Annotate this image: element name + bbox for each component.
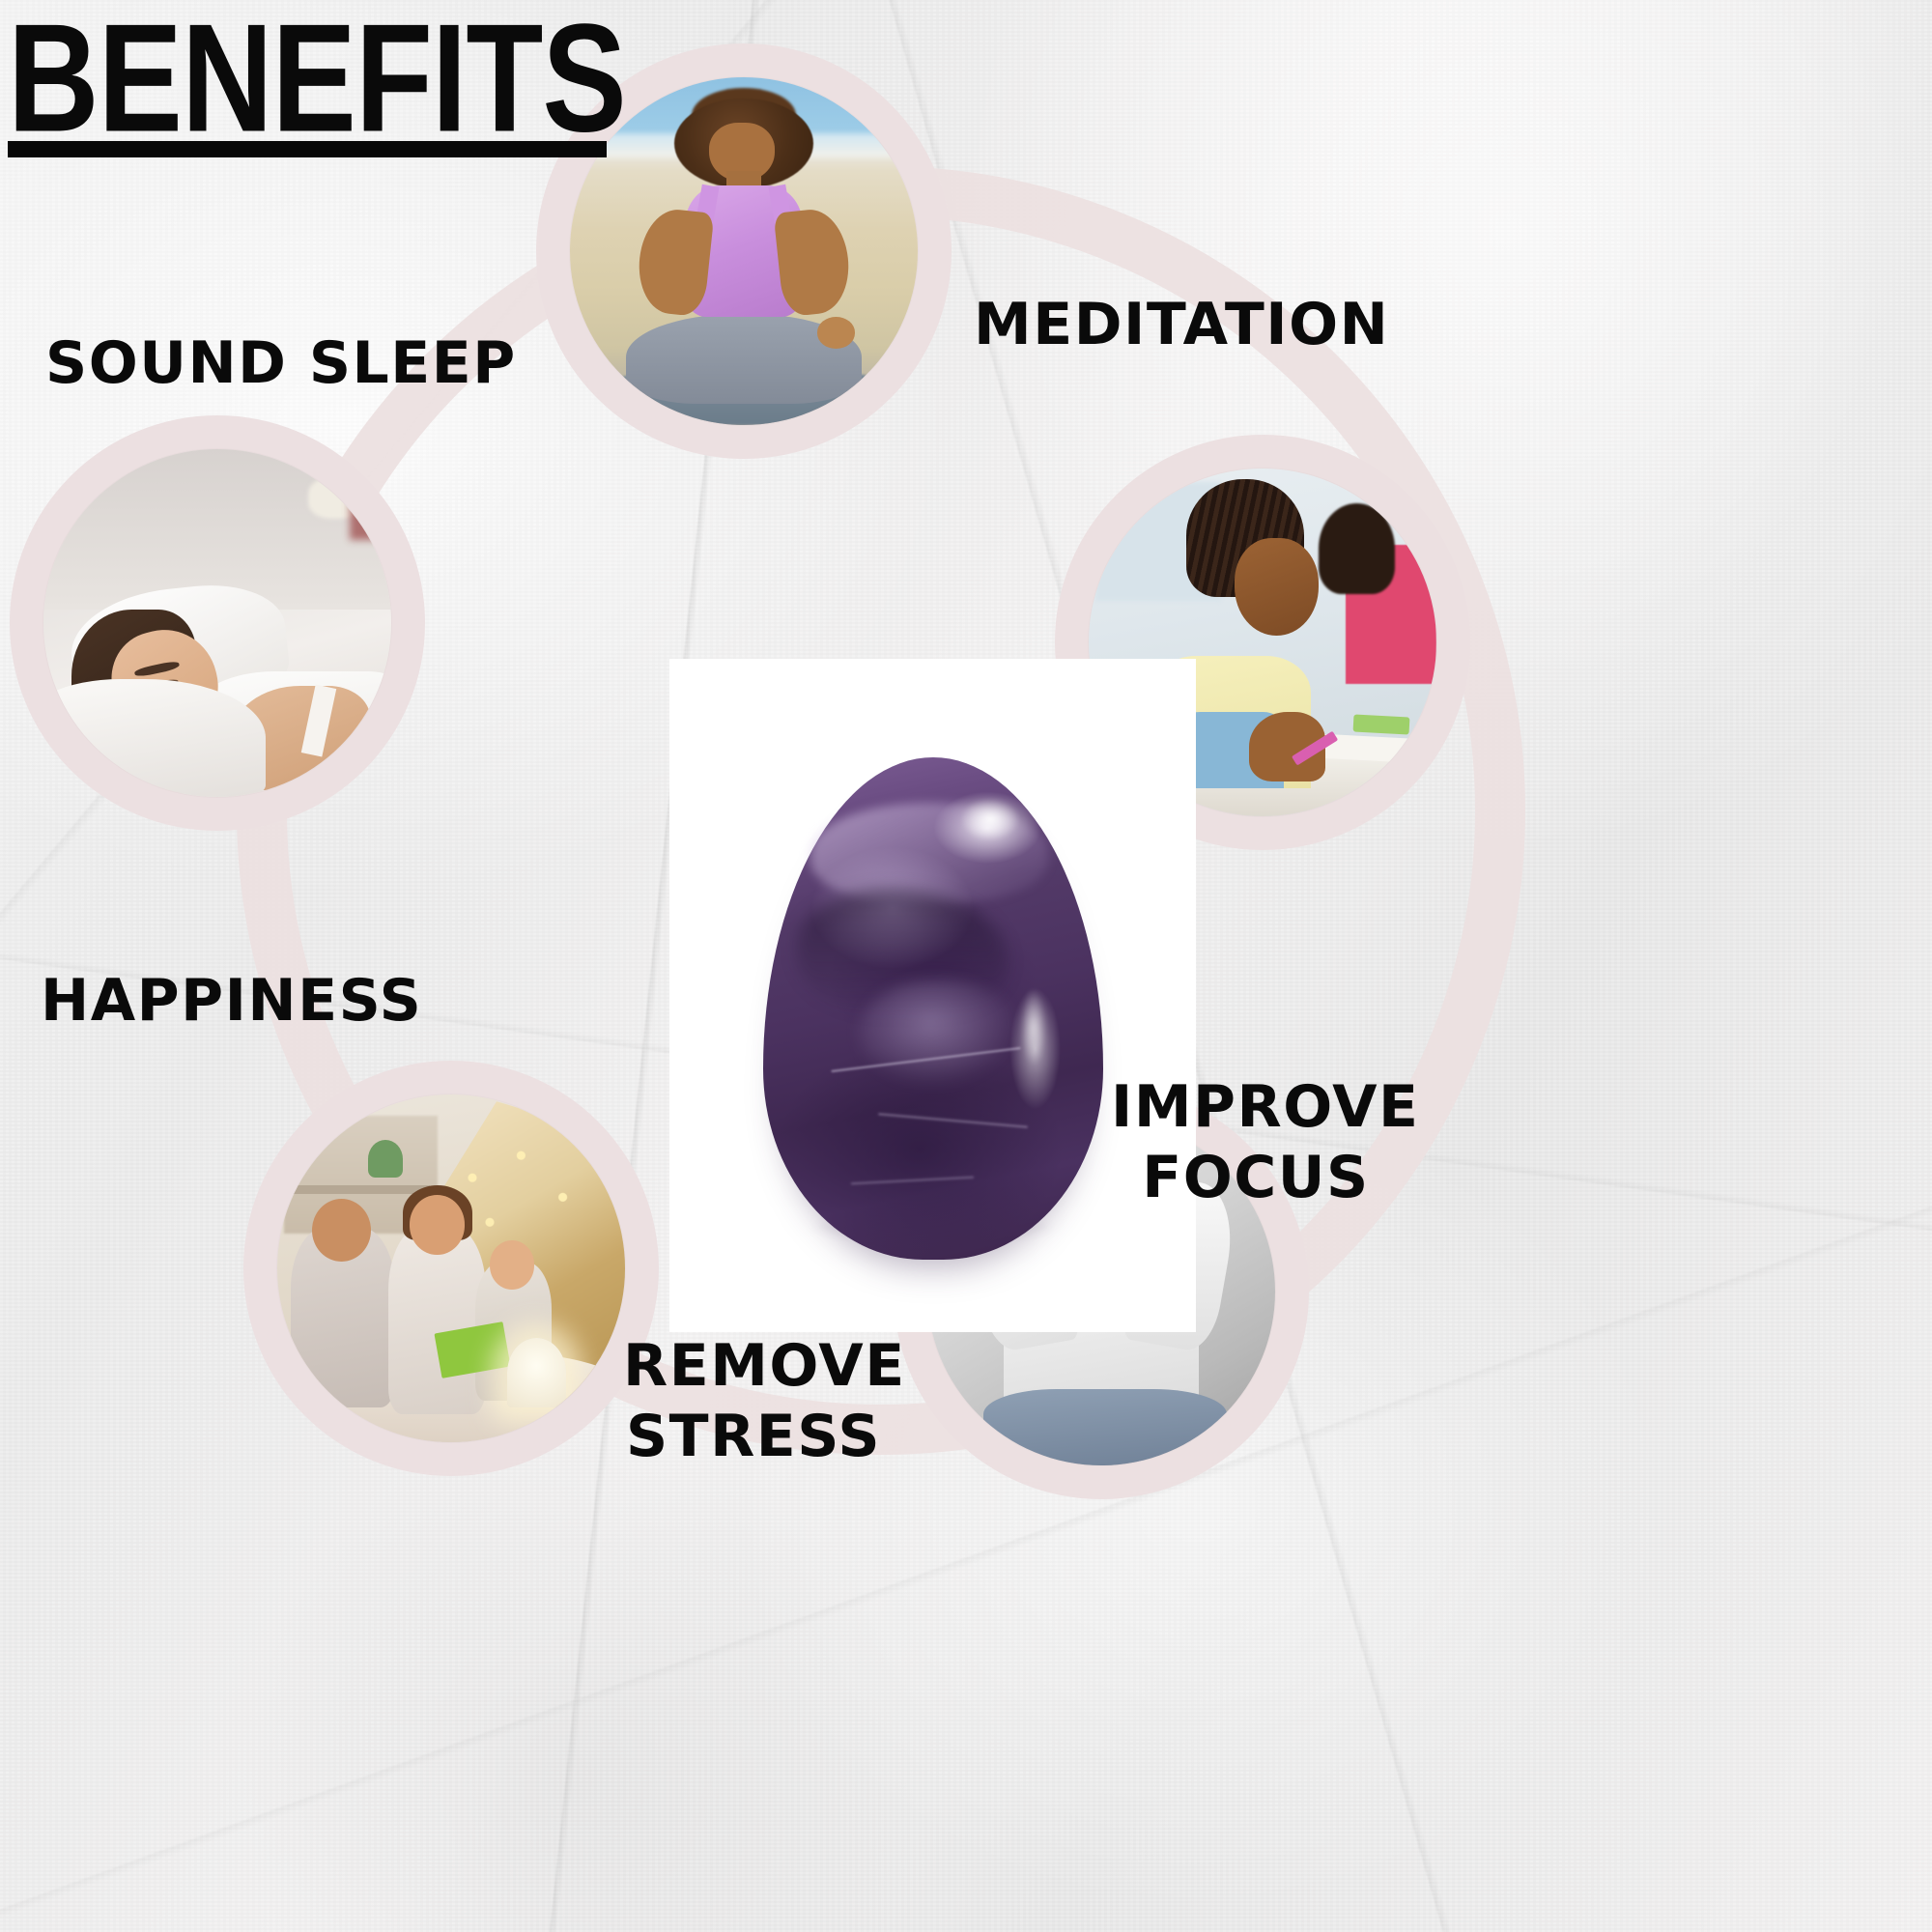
amethyst-egg-image	[763, 757, 1103, 1260]
benefit-label-remove-stress: REMOVE STRESS	[623, 1331, 884, 1472]
photo-woman-sleeping-in-bed	[43, 449, 391, 797]
benefit-label-happiness: HAPPINESS	[41, 966, 422, 1037]
benefit-label-meditation: MEDITATION	[974, 290, 1389, 360]
center-product-card[interactable]	[669, 659, 1196, 1332]
photo-family-reading-in-blanket-fort	[277, 1094, 625, 1442]
benefit-label-sound-sleep: SOUND SLEEP	[45, 328, 517, 399]
page-title: BENEFITS	[8, 8, 626, 150]
poster-title-block: BENEFITS	[8, 8, 645, 157]
benefit-node-happiness[interactable]	[243, 1061, 659, 1476]
benefit-label-improve-focus: IMPROVE FOCUS	[1111, 1072, 1401, 1213]
poster-canvas: BENEFITS	[0, 0, 1932, 1932]
benefit-node-sound-sleep[interactable]	[10, 415, 425, 831]
